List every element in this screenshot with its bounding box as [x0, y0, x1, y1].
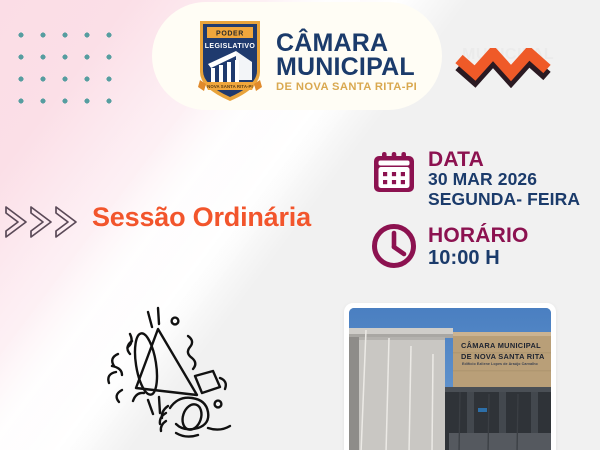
building-photo: CÂMARA MUNICIPAL DE NOVA SANTA RITA Edif…: [349, 308, 551, 450]
calendar-icon: [370, 148, 418, 196]
time-row: HORÁRIO 10:00 H: [370, 224, 580, 270]
photo-frame: CÂMARA MUNICIPAL DE NOVA SANTA RITA Edif…: [344, 303, 556, 450]
poster-canvas: MUNICIPAL PODER LEGISLATIVO: [0, 0, 600, 450]
logo-line-3: DE NOVA SANTA RITA-PI: [276, 82, 417, 93]
weekday-value: SEGUNDA- FEIRA: [428, 190, 580, 210]
coat-of-arms-shield-icon: PODER LEGISLATIVO NOVA SANTA RITA-PI: [196, 18, 264, 104]
event-info-block: DATA 30 MAR 2026 SEGUNDA- FEIRA HORÁRIO …: [370, 148, 580, 270]
brand-logo: PODER LEGISLATIVO NOVA SANTA RITA-PI CÂM…: [196, 18, 417, 104]
megaphone-icon: [96, 296, 258, 446]
chevron-arrows-icon: [2, 201, 84, 248]
svg-text:NOVA SANTA RITA-PI: NOVA SANTA RITA-PI: [207, 84, 253, 89]
date-row: DATA 30 MAR 2026 SEGUNDA- FEIRA: [370, 148, 580, 210]
date-label: DATA: [428, 149, 580, 170]
logo-line-2: MUNICIPAL: [276, 55, 417, 79]
svg-text:PODER: PODER: [216, 31, 244, 38]
svg-text:LEGISLATIVO: LEGISLATIVO: [205, 43, 256, 50]
clock-icon: [370, 222, 418, 270]
date-value: 30 MAR 2026: [428, 170, 580, 190]
time-label: HORÁRIO: [428, 225, 529, 246]
page-title: Sessão Ordinária: [92, 202, 311, 233]
dot-grid-decoration: [4, 18, 128, 108]
time-value: 10:00 H: [428, 247, 529, 269]
logo-line-1: CÂMARA: [276, 31, 417, 55]
zigzag-icon: [455, 48, 555, 88]
